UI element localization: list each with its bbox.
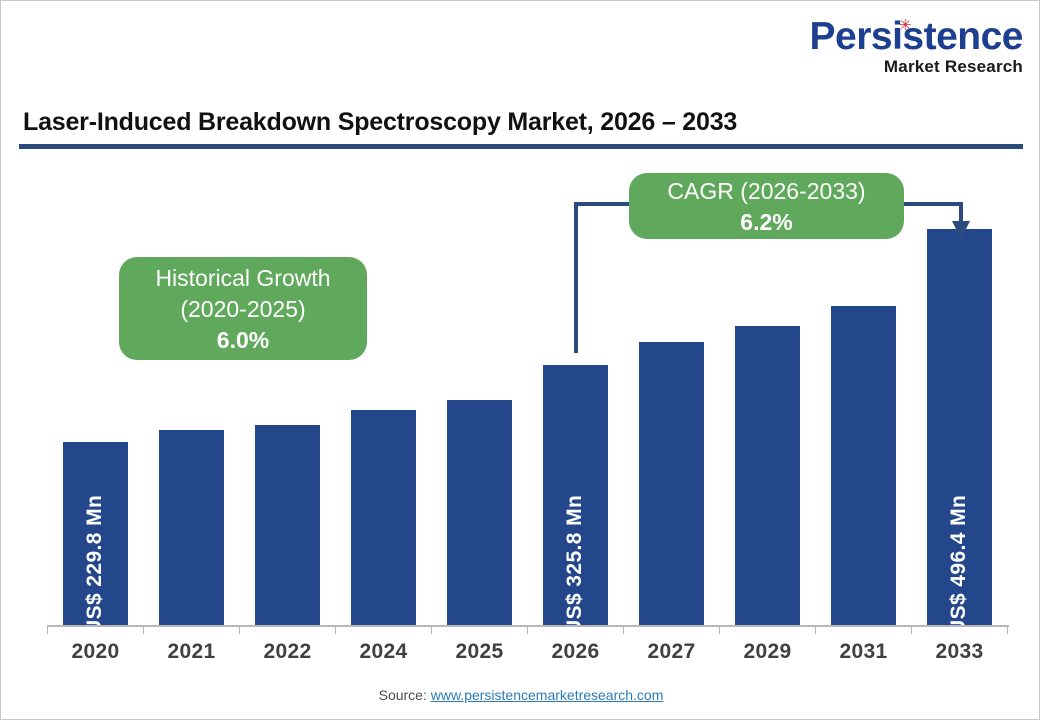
bar-2021 (159, 430, 224, 625)
x-axis-tick-end (1007, 625, 1008, 634)
historical-growth-callout: Historical Growth (2020-2025) 6.0% (119, 257, 367, 360)
bar-2025 (447, 400, 512, 625)
x-axis-label-2021: 2021 (144, 640, 240, 664)
chart-page: Persistence ✳ Market Research Laser-Indu… (0, 0, 1040, 720)
bar-2022 (255, 425, 320, 625)
source-prefix: Source: (379, 687, 431, 703)
x-axis-label-2033: 2033 (912, 640, 1008, 664)
cagr-line1: CAGR (2026-2033) (667, 176, 865, 207)
bar-value-label-2026: US$ 325.8 Mn (563, 495, 587, 635)
source-line: Source: www.persistencemarketresearch.co… (1, 687, 1040, 703)
bar-value-label-2033: US$ 496.4 Mn (947, 495, 971, 635)
x-axis-label-2022: 2022 (240, 640, 336, 664)
x-axis-label-2020: 2020 (48, 640, 144, 664)
cagr-callout: CAGR (2026-2033) 6.2% (629, 173, 904, 239)
x-axis-label-2024: 2024 (336, 640, 432, 664)
bar-2027 (639, 342, 704, 625)
source-link[interactable]: www.persistencemarketresearch.com (431, 687, 664, 703)
historical-growth-line2: (2020-2025) (180, 294, 305, 325)
historical-growth-line1: Historical Growth (155, 263, 330, 294)
x-axis-line (47, 625, 1009, 627)
x-axis-label-2026: 2026 (528, 640, 624, 664)
bar-2029 (735, 326, 800, 625)
bar-chart-plot: US$ 229.8 Mn20202021202220242025US$ 325.… (1, 1, 1040, 720)
x-axis-label-2027: 2027 (624, 640, 720, 664)
x-axis-label-2029: 2029 (720, 640, 816, 664)
cagr-value: 6.2% (740, 207, 792, 237)
x-axis-label-2031: 2031 (816, 640, 912, 664)
bar-2024 (351, 410, 416, 625)
bar-2031 (831, 306, 896, 625)
bar-value-label-2020: US$ 229.8 Mn (83, 495, 107, 635)
x-axis-label-2025: 2025 (432, 640, 528, 664)
historical-growth-value: 6.0% (217, 325, 269, 355)
